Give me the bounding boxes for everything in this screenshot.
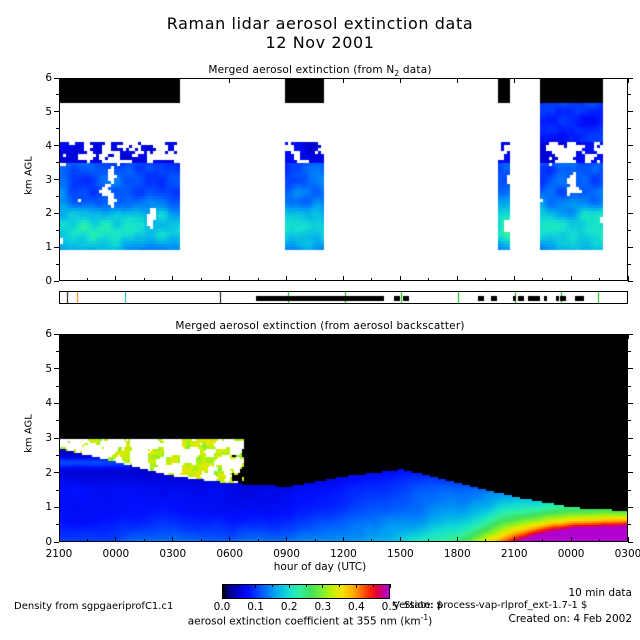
y-axis-top-tick-mark [628, 247, 633, 248]
y-axis-bottom-minor-tick [628, 490, 631, 491]
x-axis-tick-mark [286, 334, 287, 339]
x-axis-minor-tick [542, 539, 543, 542]
heatmap-panel-bottom[interactable] [59, 334, 628, 542]
y-axis-top-tick-label: 2 [28, 207, 52, 219]
y-axis-bottom-tick-mark [628, 403, 633, 404]
y-axis-top-tick-mark [628, 145, 633, 146]
y-axis-bottom-minor-tick [56, 524, 59, 525]
y-axis-top-tick-label: 5 [28, 106, 52, 118]
y-axis-top-tick-label: 0 [28, 275, 52, 287]
x-axis-tick-mark [457, 276, 458, 281]
y-axis-top-minor-tick [628, 128, 631, 129]
y-axis-top-tick-label: 1 [28, 241, 52, 253]
x-axis-tick-mark [229, 276, 230, 281]
y-axis-bottom-tick-label: 1 [28, 501, 52, 513]
y-axis-top-tick-mark [628, 281, 633, 282]
x-axis-tick-mark [457, 537, 458, 542]
x-axis-tick-mark [571, 334, 572, 339]
y-axis-bottom-minor-tick [628, 351, 631, 352]
x-axis-minor-tick [371, 278, 372, 281]
x-axis-tick-mark [514, 276, 515, 281]
y-axis-top-minor-tick [628, 264, 631, 265]
y-axis-bottom-minor-tick [628, 386, 631, 387]
x-axis-minor-tick [542, 278, 543, 281]
y-axis-top-tick-mark [628, 111, 633, 112]
x-axis-tick-mark [115, 276, 116, 281]
x-axis-tick-mark [115, 78, 116, 83]
y-axis-top-minor-tick [56, 162, 59, 163]
x-axis-tick-mark [571, 537, 572, 542]
x-axis-tick-mark [400, 276, 401, 281]
x-axis-minor-tick [258, 539, 259, 542]
y-axis-top-minor-tick [628, 230, 631, 231]
colorbar-tick-label: 0.2 [272, 601, 306, 613]
y-axis-top-minor-tick [56, 230, 59, 231]
y-axis-bottom-tick-label: 5 [28, 363, 52, 375]
y-axis-bottom-tick-label: 6 [28, 328, 52, 340]
y-axis-bottom-tick-mark [54, 507, 59, 508]
x-axis-minor-tick [371, 539, 372, 542]
x-axis-minor-tick [87, 539, 88, 542]
y-axis-top-minor-tick [628, 94, 631, 95]
y-axis-top-tick-mark [628, 179, 633, 180]
x-axis-tick-mark [571, 78, 572, 83]
x-axis-tick-mark [400, 537, 401, 542]
x-axis-tick-mark [628, 537, 629, 542]
x-axis-tick-label: 2100 [493, 548, 535, 560]
y-axis-top-tick-mark [54, 145, 59, 146]
y-axis-bottom-tick-mark [54, 472, 59, 473]
x-axis-tick-mark [172, 78, 173, 83]
y-axis-top-tick-label: 4 [28, 140, 52, 152]
y-axis-bottom-tick-label: 4 [28, 397, 52, 409]
x-axis-tick-label: 0000 [550, 548, 592, 560]
created-on-label: Created on: 4 Feb 2002 [0, 613, 632, 625]
state-label: State: process-vap-rlprof_ext-1.7-1 $ [404, 600, 587, 611]
y-axis-bottom-tick-mark [54, 403, 59, 404]
y-axis-top-tick-label: 3 [28, 174, 52, 186]
x-axis-tick-mark [229, 537, 230, 542]
x-axis-minor-tick [258, 278, 259, 281]
y-axis-top-minor-tick [56, 196, 59, 197]
x-axis-tick-mark [172, 276, 173, 281]
y-axis-bottom-tick-mark [628, 542, 633, 543]
x-axis-tick-mark [628, 334, 629, 339]
y-axis-top-minor-tick [628, 162, 631, 163]
x-axis-minor-tick [485, 278, 486, 281]
y-axis-top-tick-mark [54, 247, 59, 248]
x-axis-tick-label: 0000 [95, 548, 137, 560]
x-axis-tick-label: 1500 [379, 548, 421, 560]
x-axis-tick-mark [514, 334, 515, 339]
resolution-label: 10 min data [0, 587, 632, 599]
x-axis-minor-tick [315, 278, 316, 281]
x-axis-tick-mark [286, 537, 287, 542]
heatmap-panel-top[interactable] [59, 78, 628, 281]
data-availability-strip[interactable] [59, 291, 628, 304]
y-axis-top-minor-tick [628, 196, 631, 197]
x-axis-tick-label: 1200 [323, 548, 365, 560]
x-axis-tick-mark [514, 537, 515, 542]
x-axis-minor-tick [599, 539, 600, 542]
x-axis-tick-mark [115, 334, 116, 339]
panel-title-top-suffix: data) [399, 64, 431, 76]
x-axis-tick-mark [343, 537, 344, 542]
y-axis-top-minor-tick [56, 94, 59, 95]
x-axis-tick-label: 0300 [152, 548, 194, 560]
y-axis-bottom-tick-mark [54, 368, 59, 369]
y-axis-bottom-tick-mark [628, 334, 633, 335]
x-axis-tick-mark [229, 334, 230, 339]
x-axis-tick-mark [400, 78, 401, 83]
y-axis-bottom-minor-tick [56, 455, 59, 456]
x-axis-tick-mark [571, 276, 572, 281]
x-axis-tick-mark [229, 78, 230, 83]
x-axis-minor-tick [201, 278, 202, 281]
y-axis-bottom-minor-tick [628, 524, 631, 525]
x-axis-minor-tick [87, 278, 88, 281]
x-axis-minor-tick [428, 278, 429, 281]
panel-title-bottom: Merged aerosol extinction (from aerosol … [0, 320, 640, 332]
colorbar-tick-label: 0.3 [306, 601, 340, 613]
y-axis-top-tick-mark [54, 111, 59, 112]
x-axis-tick-mark [115, 537, 116, 542]
x-axis-tick-mark [59, 537, 60, 542]
x-axis-tick-label: 2100 [38, 548, 80, 560]
x-axis-minor-tick [428, 539, 429, 542]
x-axis-tick-mark [628, 276, 629, 281]
x-axis-tick-mark [59, 78, 60, 83]
x-axis-tick-label: 0900 [266, 548, 308, 560]
figure-title-line2: 12 Nov 2001 [0, 33, 640, 52]
y-axis-top-tick-mark [628, 78, 633, 79]
x-axis-tick-label: 0300 [607, 548, 640, 560]
figure-title-line1: Raman lidar aerosol extinction data [0, 14, 640, 33]
density-source-label: Density from sgpgaeriprofC1.c1 [14, 601, 173, 612]
y-axis-bottom-minor-tick [56, 490, 59, 491]
colorbar-tick-label: 0.4 [339, 601, 373, 613]
panel-title-top-prefix: Merged aerosol extinction (from N [208, 64, 394, 76]
panel-title-top: Merged aerosol extinction (from N2 data) [0, 64, 640, 78]
colorbar-tick-label: 0.1 [239, 601, 273, 613]
x-axis-minor-tick [599, 278, 600, 281]
x-axis-tick-mark [628, 78, 629, 83]
x-axis-minor-tick [485, 539, 486, 542]
x-axis-tick-label: 0600 [209, 548, 251, 560]
y-axis-bottom-minor-tick [628, 455, 631, 456]
x-axis-tick-mark [457, 334, 458, 339]
x-axis-tick-mark [172, 537, 173, 542]
x-axis-tick-mark [286, 78, 287, 83]
y-axis-bottom-tick-label: 2 [28, 467, 52, 479]
x-axis-tick-mark [514, 78, 515, 83]
y-axis-bottom-minor-tick [56, 351, 59, 352]
x-axis-tick-mark [457, 78, 458, 83]
x-axis-tick-mark [343, 334, 344, 339]
y-axis-bottom-minor-tick [56, 420, 59, 421]
x-axis-minor-tick [315, 539, 316, 542]
x-axis-tick-mark [343, 78, 344, 83]
x-axis-minor-tick [144, 539, 145, 542]
x-axis-minor-tick [201, 539, 202, 542]
y-axis-bottom-minor-tick [56, 386, 59, 387]
x-axis-tick-mark [400, 334, 401, 339]
x-axis-label: hour of day (UTC) [0, 561, 640, 573]
y-axis-top-tick-label: 6 [28, 72, 52, 84]
y-axis-top-tick-mark [54, 213, 59, 214]
x-axis-tick-mark [59, 276, 60, 281]
x-axis-tick-mark [343, 276, 344, 281]
y-axis-bottom-tick-mark [628, 472, 633, 473]
x-axis-minor-tick [144, 278, 145, 281]
x-axis-tick-mark [59, 334, 60, 339]
y-axis-bottom-minor-tick [628, 420, 631, 421]
y-axis-top-tick-mark [54, 179, 59, 180]
y-axis-bottom-tick-mark [628, 438, 633, 439]
colorbar-tick-label: 0.0 [205, 601, 239, 613]
y-axis-bottom-tick-mark [628, 507, 633, 508]
y-axis-bottom-tick-label: 0 [28, 536, 52, 548]
y-axis-bottom-tick-mark [628, 368, 633, 369]
x-axis-tick-mark [172, 334, 173, 339]
x-axis-tick-mark [286, 276, 287, 281]
y-axis-bottom-tick-label: 3 [28, 432, 52, 444]
y-axis-bottom-tick-mark [54, 438, 59, 439]
x-axis-tick-label: 1800 [436, 548, 478, 560]
y-axis-top-tick-mark [628, 213, 633, 214]
y-axis-top-minor-tick [56, 128, 59, 129]
y-axis-top-minor-tick [56, 264, 59, 265]
